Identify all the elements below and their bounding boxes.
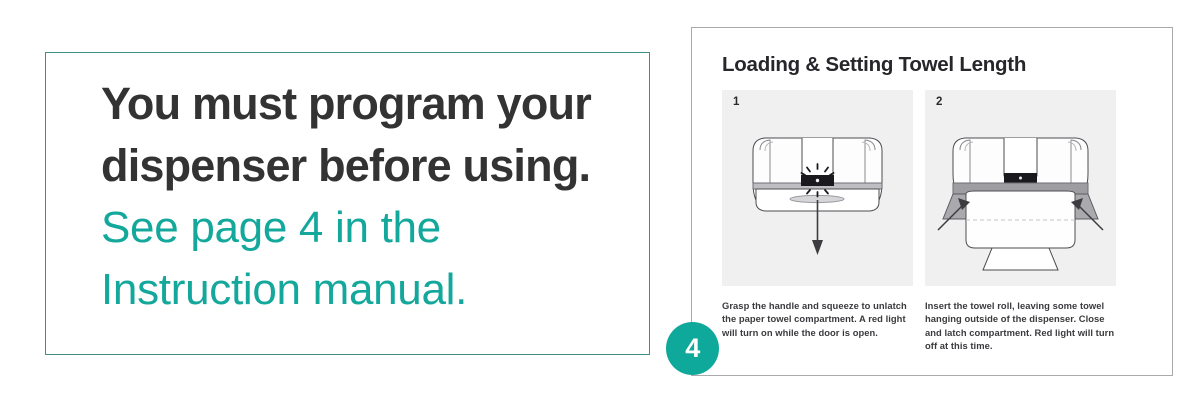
step-2-illustration-box: 2 (925, 90, 1116, 286)
callout-subline-line-1: See page 4 in the (101, 197, 646, 259)
callout-text-block: You must program your dispenser before u… (101, 73, 646, 321)
manual-card-title: Loading & Setting Towel Length (722, 53, 1026, 77)
callout-panel: You must program your dispenser before u… (45, 52, 650, 355)
manual-page-card: Loading & Setting Towel Length 1 (691, 27, 1173, 376)
dispenser-loading-roll-icon (925, 90, 1116, 286)
dispenser-closed-icon (722, 90, 913, 286)
step-1-number: 1 (733, 96, 739, 108)
step-1-illustration-box: 1 (722, 90, 913, 286)
step-2-caption: Insert the towel roll, leaving some towe… (925, 299, 1116, 353)
step-badge: 4 (666, 322, 719, 375)
callout-headline-line-1: You must program your (101, 73, 646, 135)
step-2-number: 2 (936, 96, 942, 108)
manual-step-1: 1 (722, 90, 913, 353)
manual-step-2: 2 (925, 90, 1116, 353)
manual-steps-row: 1 (722, 90, 1146, 353)
step-1-caption: Grasp the handle and squeeze to unlatch … (722, 299, 913, 339)
callout-headline-line-2: dispenser before using. (101, 135, 646, 197)
callout-subline-line-2: Instruction manual. (101, 259, 646, 321)
step-badge-number: 4 (685, 335, 700, 362)
